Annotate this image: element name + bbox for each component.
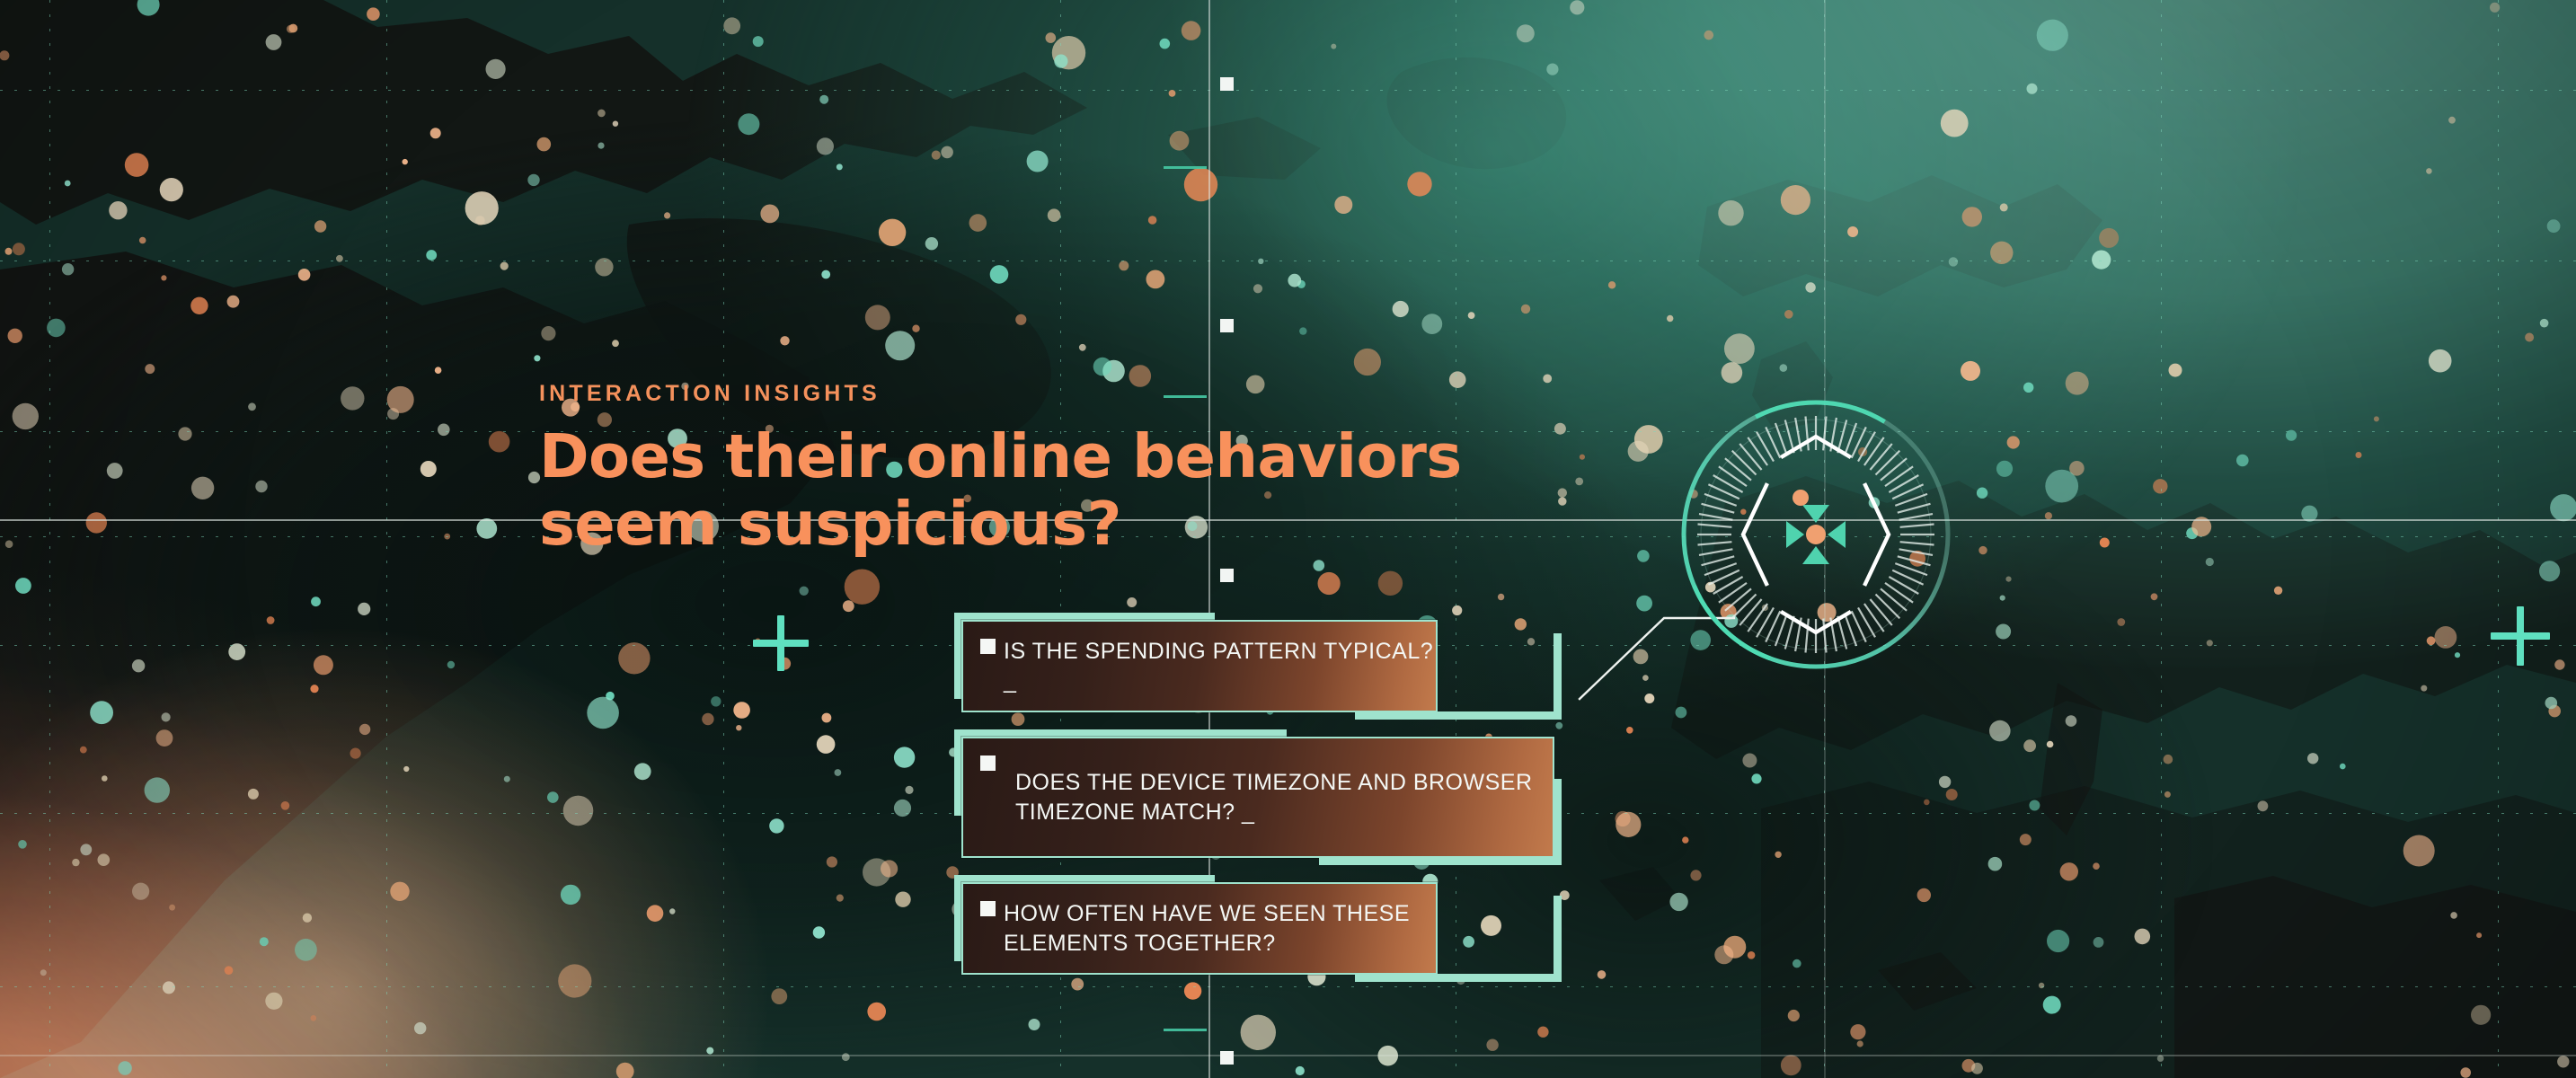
question-card-label: DOES THE DEVICE TIMEZONE AND BROWSER TIM… bbox=[963, 768, 1553, 827]
question-card-list: IS THE SPENDING PATTERN TYPICAL?_ DOES T… bbox=[961, 620, 1554, 999]
slide-canvas: INTERACTION INSIGHTS Does their online b… bbox=[0, 0, 2576, 1078]
square-marker bbox=[1220, 1051, 1234, 1065]
question-card[interactable]: HOW OFTEN HAVE WE SEEN THESE ELEMENTS TO… bbox=[961, 882, 1554, 975]
question-card[interactable]: IS THE SPENDING PATTERN TYPICAL?_ bbox=[961, 620, 1554, 712]
radar-targeting-icon bbox=[1677, 395, 1955, 674]
crosshair-icon bbox=[2491, 606, 2550, 666]
crosshair-icon bbox=[753, 615, 809, 671]
square-bullet-icon bbox=[980, 755, 996, 771]
question-card-label: HOW OFTEN HAVE WE SEEN THESE ELEMENTS TO… bbox=[963, 899, 1436, 959]
horizontal-rule bbox=[0, 1055, 2576, 1056]
eyebrow-label: INTERACTION INSIGHTS bbox=[539, 381, 1462, 407]
square-marker bbox=[1220, 77, 1234, 91]
square-marker bbox=[1220, 569, 1234, 582]
square-bullet-icon bbox=[980, 639, 996, 654]
headline-line-1: Does their online behaviors bbox=[539, 423, 1462, 490]
question-card-label: IS THE SPENDING PATTERN TYPICAL?_ bbox=[963, 637, 1436, 696]
square-marker bbox=[1220, 319, 1234, 332]
square-bullet-icon bbox=[980, 901, 996, 916]
headline-line-2: seem suspicious? bbox=[539, 490, 1462, 558]
question-card[interactable]: DOES THE DEVICE TIMEZONE AND BROWSER TIM… bbox=[961, 737, 1554, 858]
headline-block: INTERACTION INSIGHTS Does their online b… bbox=[539, 381, 1462, 558]
page-title: Does their online behaviors seem suspici… bbox=[539, 423, 1462, 558]
